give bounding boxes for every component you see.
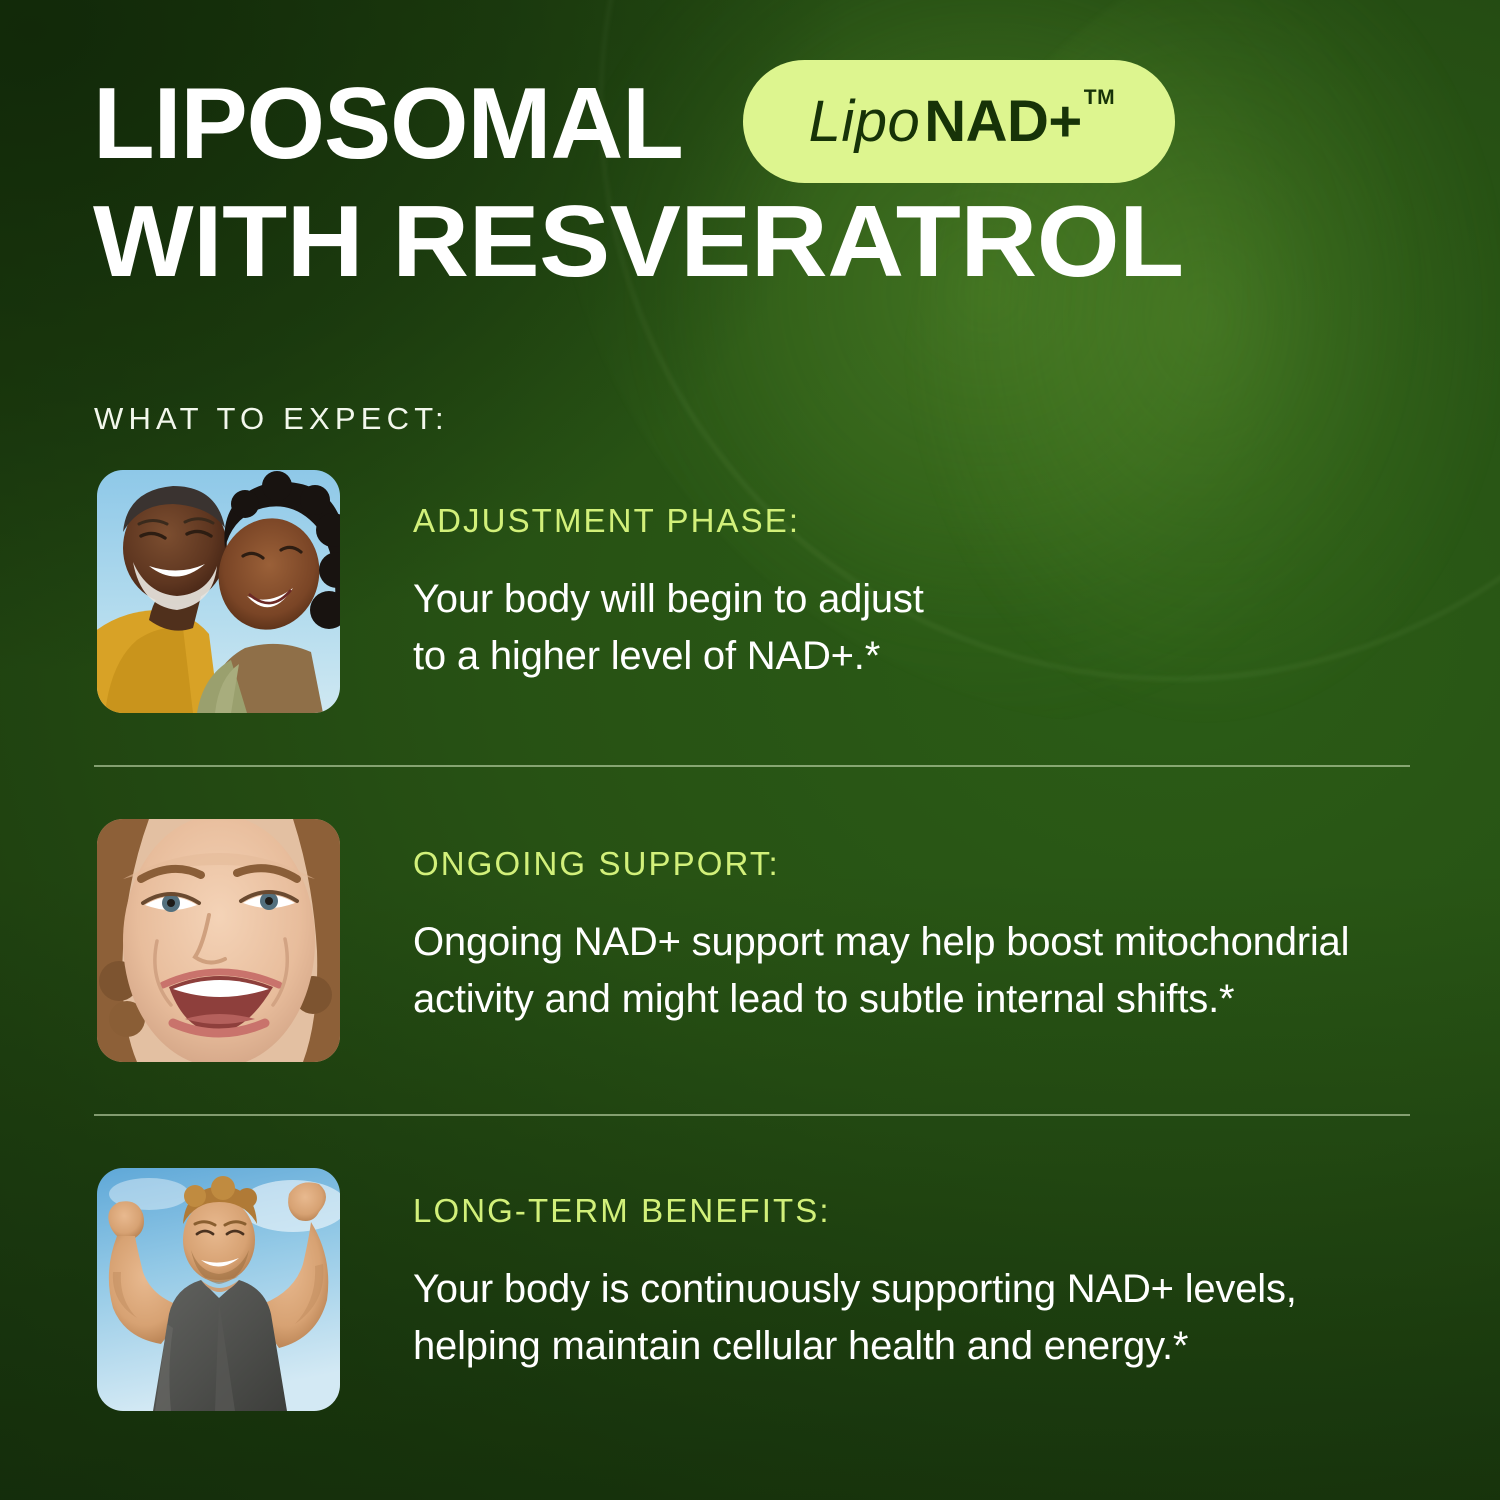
list-item-body-line: Ongoing NAD+ support may help boost mito… (413, 914, 1349, 971)
list-item-body-line: to a higher level of NAD+.* (413, 628, 924, 685)
headline-row-2: WITH RESVERATROL (93, 184, 1423, 300)
headline-block: LIPOSOMAL Lipo NAD+ TM WITH RESVERATROL (93, 66, 1423, 300)
list-item-body: Your body will begin to adjust to a high… (413, 571, 924, 685)
trademark-symbol: TM (1084, 86, 1115, 110)
list-item-title: LONG-TERM BENEFITS: (413, 1194, 1297, 1227)
list-item-title: ADJUSTMENT PHASE: (413, 504, 924, 537)
list-item-body-line: Your body will begin to adjust (413, 571, 924, 628)
divider-1 (94, 765, 1410, 767)
smiling-mature-couple-photo (97, 470, 340, 713)
list-item: LONG-TERM BENEFITS: Your body is continu… (94, 1168, 1410, 1411)
man-flexing-biceps-photo (97, 1168, 340, 1411)
list-item-text: ONGOING SUPPORT: Ongoing NAD+ support ma… (413, 819, 1349, 1028)
list-item: ADJUSTMENT PHASE: Your body will begin t… (94, 470, 1410, 713)
list-item-body-line: helping maintain cellular health and ene… (413, 1318, 1297, 1375)
list-item-text: ADJUSTMENT PHASE: Your body will begin t… (413, 470, 924, 685)
list-item-body: Your body is continuously supporting NAD… (413, 1261, 1297, 1375)
list-item-title: ONGOING SUPPORT: (413, 847, 1349, 880)
brand-lipo-text: Lipo (809, 88, 921, 155)
list-item-body-line: activity and might lead to subtle intern… (413, 971, 1349, 1028)
list-item-body-line: Your body is continuously supporting NAD… (413, 1261, 1297, 1318)
headline-line-1: LIPOSOMAL (93, 74, 683, 175)
list-item-text: LONG-TERM BENEFITS: Your body is continu… (413, 1168, 1297, 1375)
headline-row-1: LIPOSOMAL Lipo NAD+ TM (93, 66, 1423, 182)
brand-badge-liponad: Lipo NAD+ TM (743, 60, 1176, 183)
list-item: ONGOING SUPPORT: Ongoing NAD+ support ma… (94, 819, 1410, 1062)
headline-line-2: WITH RESVERATROL (93, 192, 1184, 293)
laughing-woman-closeup-photo (97, 819, 340, 1062)
liposomal-liponad-infographic: LIPOSOMAL Lipo NAD+ TM WITH RESVERATROL … (0, 0, 1500, 1500)
divider-2 (94, 1114, 1410, 1116)
brand-nad-text: NAD+ (924, 88, 1082, 155)
list-item-body: Ongoing NAD+ support may help boost mito… (413, 914, 1349, 1028)
section-label-what-to-expect: WHAT TO EXPECT: (94, 401, 449, 437)
what-to-expect-list: ADJUSTMENT PHASE: Your body will begin t… (94, 470, 1410, 1411)
